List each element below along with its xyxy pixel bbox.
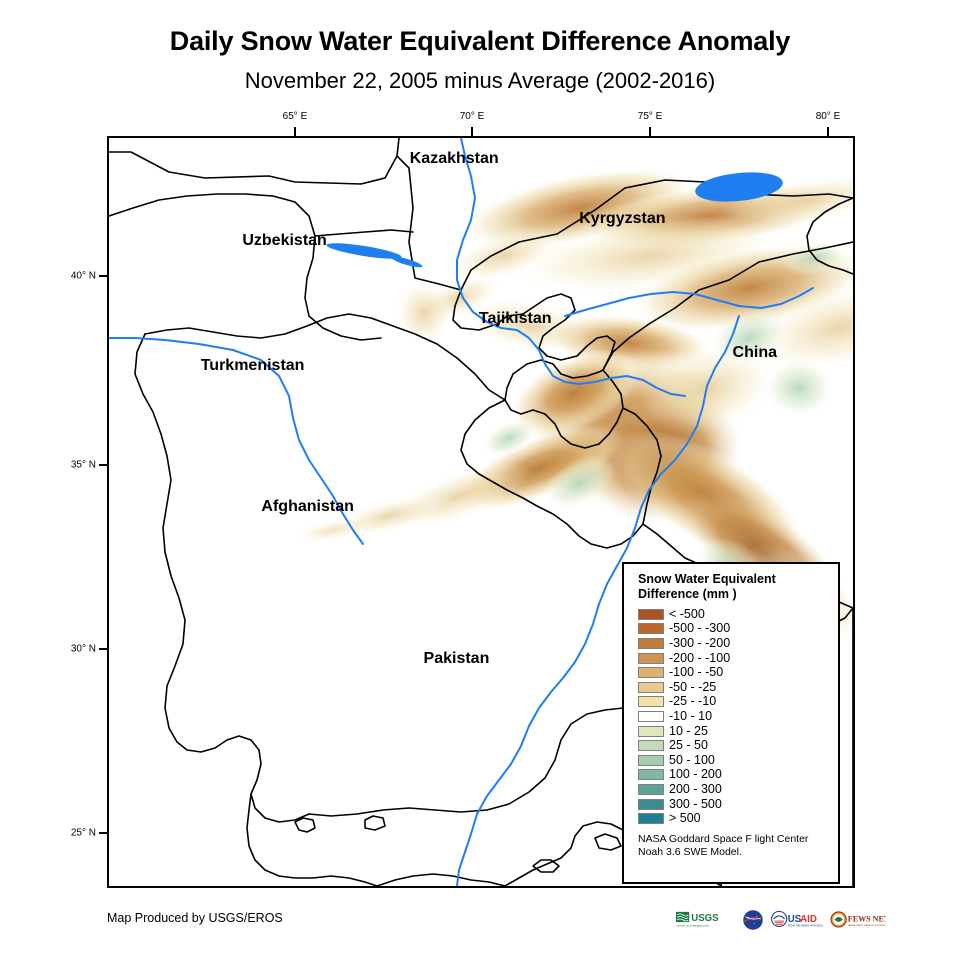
legend-row: 300 - 500 (638, 797, 838, 812)
legend-color-swatch (638, 755, 664, 766)
lon-tick-mark (294, 127, 296, 136)
legend-class-list: < -500-500 - -300-300 - -200-200 - -100-… (638, 607, 838, 826)
legend-color-swatch (638, 769, 664, 780)
legend-row: -100 - -50 (638, 665, 838, 680)
lon-tick-mark (827, 127, 829, 136)
svg-text:FEWS NET: FEWS NET (848, 915, 886, 924)
legend-row: -10 - 10 (638, 709, 838, 724)
map-legend: Snow Water Equivalent Difference (mm ) <… (622, 562, 840, 884)
legend-title: Snow Water Equivalent Difference (mm ) (638, 572, 818, 602)
lat-tick-label: 25° N (58, 828, 96, 839)
legend-row: 200 - 300 (638, 782, 838, 797)
legend-title-line2: Difference (mm ) (638, 587, 818, 602)
legend-class-label: 100 - 200 (669, 768, 722, 781)
legend-class-label: 10 - 25 (669, 725, 708, 738)
legend-row: > 500 (638, 811, 838, 826)
svg-text:science for a changing world: science for a changing world (677, 925, 710, 928)
legend-color-swatch (638, 726, 664, 737)
page-subtitle: November 22, 2005 minus Average (2002-20… (0, 68, 960, 94)
legend-row: 25 - 50 (638, 738, 838, 753)
agency-logo-strip: USGS science for a changing world US AID… (676, 906, 886, 934)
legend-source-note: NASA Goddard Space F light Center Noah 3… (638, 833, 833, 859)
legend-class-label: 50 - 100 (669, 754, 715, 767)
legend-row: < -500 (638, 607, 838, 622)
legend-color-swatch (638, 813, 664, 824)
legend-class-label: < -500 (669, 608, 705, 621)
nasa-logo (740, 907, 766, 933)
legend-color-swatch (638, 696, 664, 707)
svg-text:AID: AID (800, 914, 817, 925)
legend-color-swatch (638, 653, 664, 664)
legend-class-label: -300 - -200 (669, 637, 730, 650)
lat-tick-label: 35° N (58, 460, 96, 471)
svg-text:USGS: USGS (691, 913, 719, 924)
legend-row: -25 - -10 (638, 695, 838, 710)
legend-row: -300 - -200 (638, 636, 838, 651)
legend-title-line1: Snow Water Equivalent (638, 572, 818, 587)
legend-class-label: 25 - 50 (669, 739, 708, 752)
legend-row: -200 - -100 (638, 651, 838, 666)
legend-color-swatch (638, 609, 664, 620)
legend-class-label: -10 - 10 (669, 710, 712, 723)
legend-class-label: -500 - -300 (669, 622, 730, 635)
legend-row: 50 - 100 (638, 753, 838, 768)
lon-tick-label: 70° E (460, 111, 485, 122)
map-credit: Map Produced by USGS/EROS (107, 911, 283, 925)
usaid-logo: US AID FROM THE AMERICAN PEOPLE (770, 907, 826, 933)
lat-tick-label: 30° N (58, 644, 96, 655)
legend-class-label: -50 - -25 (669, 681, 716, 694)
legend-note-line1: NASA Goddard Space F light Center (638, 833, 833, 846)
lon-tick-mark (649, 127, 651, 136)
fewsnet-logo: FEWS NET FAMINE EARLY WARNING SYSTEMS NE… (830, 907, 886, 933)
legend-class-label: -100 - -50 (669, 666, 723, 679)
legend-color-swatch (638, 740, 664, 751)
legend-color-swatch (638, 799, 664, 810)
legend-row: 100 - 200 (638, 768, 838, 783)
lon-tick-mark (471, 127, 473, 136)
page-title: Daily Snow Water Equivalent Difference A… (0, 26, 960, 57)
legend-class-label: -25 - -10 (669, 695, 716, 708)
legend-row: -500 - -300 (638, 622, 838, 637)
svg-text:FROM THE AMERICAN PEOPLE: FROM THE AMERICAN PEOPLE (788, 924, 824, 927)
legend-row: 10 - 25 (638, 724, 838, 739)
legend-note-line2: Noah 3.6 SWE Model. (638, 846, 833, 859)
legend-color-swatch (638, 784, 664, 795)
legend-color-swatch (638, 711, 664, 722)
lat-tick-label: 40° N (58, 271, 96, 282)
legend-class-label: > 500 (669, 812, 701, 825)
legend-color-swatch (638, 667, 664, 678)
lon-tick-label: 80° E (816, 111, 841, 122)
legend-color-swatch (638, 623, 664, 634)
legend-color-swatch (638, 638, 664, 649)
lon-tick-label: 75° E (638, 111, 663, 122)
legend-color-swatch (638, 682, 664, 693)
usgs-logo: USGS science for a changing world (676, 907, 736, 933)
svg-text:FAMINE EARLY WARNING SYSTEMS N: FAMINE EARLY WARNING SYSTEMS NETWORK (848, 924, 886, 927)
legend-class-label: 300 - 500 (669, 798, 722, 811)
lon-tick-label: 65° E (283, 111, 308, 122)
legend-class-label: -200 - -100 (669, 652, 730, 665)
legend-row: -50 - -25 (638, 680, 838, 695)
legend-class-label: 200 - 300 (669, 783, 722, 796)
